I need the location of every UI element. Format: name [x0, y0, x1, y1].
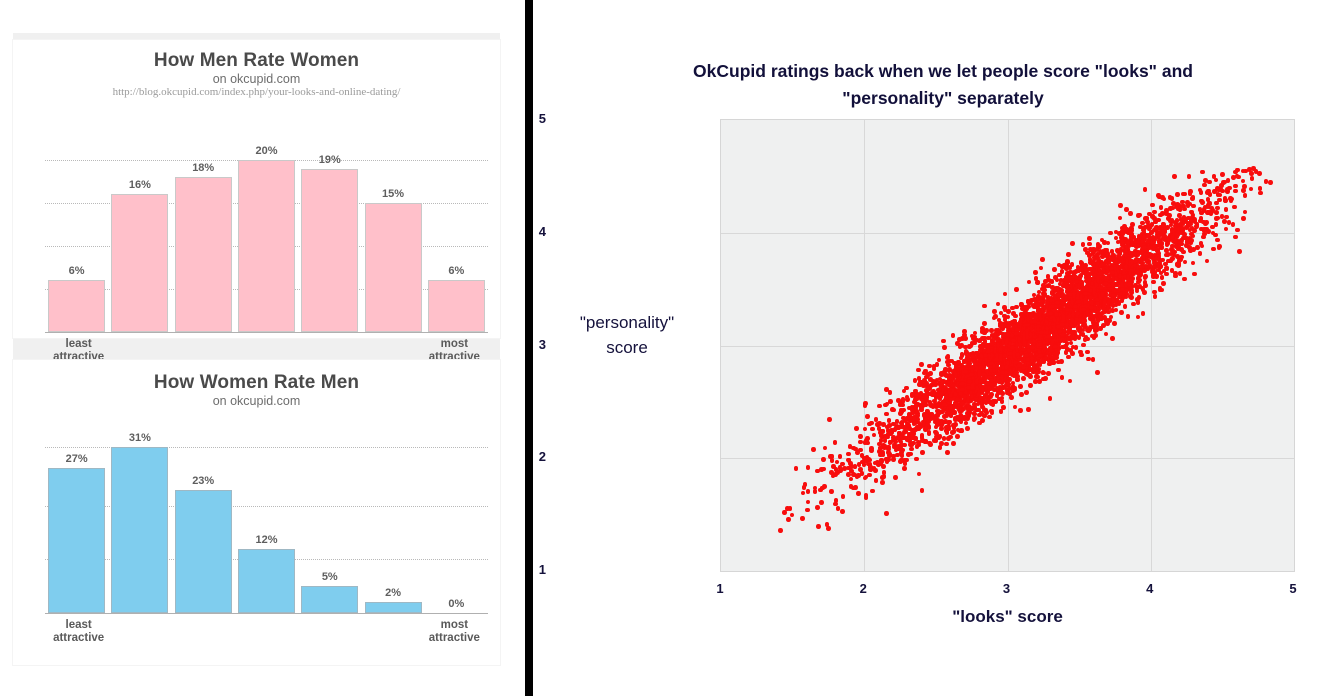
scatter-point	[1039, 296, 1044, 301]
axis-baseline	[45, 613, 488, 614]
scatter-point	[1231, 222, 1236, 227]
scatter-point	[1041, 283, 1046, 288]
axis-label-most-attractive: mostattractive	[423, 619, 486, 645]
scatter-point	[1067, 326, 1072, 331]
scatter-point	[854, 426, 859, 431]
scatter-point	[1169, 258, 1174, 263]
bar	[111, 447, 168, 613]
chart-subtitle-men-rate-women: on okcupid.com	[13, 72, 500, 86]
scatter-point	[1106, 241, 1111, 246]
scatter-point	[1181, 250, 1186, 255]
scatter-point	[886, 450, 891, 455]
scatter-point	[1160, 275, 1165, 280]
scatter-point	[1094, 328, 1099, 333]
scatter-point	[969, 372, 974, 377]
scatter-point	[1101, 323, 1106, 328]
scatter-point	[1091, 357, 1096, 362]
bar	[301, 586, 358, 613]
scatter-point	[790, 513, 795, 518]
scatter-point	[1085, 350, 1090, 355]
scatter-point	[1070, 241, 1075, 246]
scatter-point	[1217, 244, 1222, 249]
scatter-point	[1136, 300, 1141, 305]
scatter-point	[1082, 322, 1087, 327]
scatter-point	[1141, 311, 1146, 316]
scatter-point	[1183, 260, 1188, 265]
scatter-point	[897, 431, 902, 436]
scatter-point	[958, 344, 963, 349]
scatter-point	[1154, 256, 1159, 261]
scatter-point	[881, 452, 886, 457]
scatter-point	[1026, 407, 1031, 412]
scatter-point	[881, 464, 886, 469]
bar-value-label: 2%	[365, 587, 422, 599]
y-axis-label-line-1: "personality"	[541, 310, 713, 335]
scatter-point	[955, 397, 960, 402]
scatter-point	[1241, 216, 1246, 221]
scatter-point	[879, 459, 884, 464]
scatter-point	[1227, 220, 1232, 225]
y-axis-tick: 3	[506, 337, 546, 352]
scatter-point	[932, 416, 937, 421]
scatter-title-line-2: "personality" separately	[593, 85, 1293, 112]
scatter-point	[1220, 172, 1225, 177]
scatter-point	[1048, 396, 1053, 401]
bar-value-label: 20%	[238, 145, 295, 157]
scatter-point	[1249, 187, 1254, 192]
scatter-point	[1105, 251, 1110, 256]
scatter-point	[1038, 353, 1043, 358]
scatter-point	[942, 402, 947, 407]
scatter-point	[801, 491, 806, 496]
scatter-point	[971, 336, 976, 341]
scatter-point	[1153, 294, 1158, 299]
bar-value-label: 15%	[365, 188, 422, 200]
scatter-point	[965, 355, 970, 360]
scatter-point	[1030, 345, 1035, 350]
scatter-point	[1076, 299, 1081, 304]
scatter-point	[1051, 355, 1056, 360]
scatter-point	[1202, 232, 1207, 237]
scatter-point	[1003, 292, 1008, 297]
scatter-point	[1066, 355, 1071, 360]
scatter-point	[1081, 307, 1086, 312]
scatter-point	[936, 409, 941, 414]
scatter-point	[921, 400, 926, 405]
bar-value-label: 6%	[48, 265, 105, 277]
scatter-point	[1170, 268, 1175, 273]
scatter-point	[1096, 318, 1101, 323]
scatter-point	[1123, 304, 1128, 309]
scatter-point	[1003, 377, 1008, 382]
scatter-point	[806, 489, 811, 494]
scatter-point	[1143, 187, 1148, 192]
scatter-point	[924, 375, 929, 380]
axis-label-most-attractive-line-1: most	[423, 619, 486, 632]
scatter-point	[1032, 319, 1037, 324]
scatter-point	[1103, 281, 1108, 286]
scatter-point	[841, 494, 846, 499]
scatter-point	[1017, 337, 1022, 342]
axis-label-least-attractive-line-1: least	[47, 338, 110, 351]
scatter-point	[1033, 270, 1038, 275]
y-axis-tick: 2	[506, 449, 546, 464]
scatter-point	[1079, 267, 1084, 272]
scatter-point	[985, 343, 990, 348]
scatter-point	[1233, 189, 1238, 194]
scatter-point	[815, 505, 820, 510]
scatter-point	[870, 427, 875, 432]
scatter-point	[908, 452, 913, 457]
bars-area-men-rate-women: 6%16%18%20%19%15%6%leastattractivemostat…	[13, 88, 500, 338]
scatter-point	[885, 459, 890, 464]
scatter-point	[1192, 228, 1197, 233]
scatter-point	[1142, 245, 1147, 250]
scatter-point	[901, 397, 906, 402]
chart-title-women-rate-men: How Women Rate Men	[13, 372, 500, 394]
scatter-point	[819, 467, 824, 472]
scatter-point	[966, 385, 971, 390]
scatter-point	[903, 429, 908, 434]
scatter-point	[1104, 332, 1109, 337]
scatter-point	[1216, 216, 1221, 221]
scatter-point	[942, 370, 947, 375]
scatter-point	[849, 484, 854, 489]
scatter-point	[1095, 370, 1100, 375]
scatter-point	[863, 427, 868, 432]
scatter-point	[951, 383, 956, 388]
scatter-point	[851, 472, 856, 477]
scatter-point	[1022, 305, 1027, 310]
scatter-point	[1001, 405, 1006, 410]
bar-value-label: 12%	[238, 534, 295, 546]
scatter-point	[965, 399, 970, 404]
scatter-point	[1137, 284, 1142, 289]
scatter-point	[962, 394, 967, 399]
scatter-point	[982, 321, 987, 326]
scatter-point	[928, 442, 933, 447]
scatter-point	[957, 361, 962, 366]
scatter-point	[834, 498, 839, 503]
bar-value-label: 6%	[428, 265, 485, 277]
scatter-point	[1039, 330, 1044, 335]
bar-value-label: 5%	[301, 571, 358, 583]
bar-value-label: 0%	[428, 598, 485, 610]
scatter-point	[1017, 363, 1022, 368]
scatter-point	[982, 304, 987, 309]
scatter-point	[1241, 188, 1246, 193]
scatter-point	[999, 409, 1004, 414]
scatter-point	[1013, 405, 1018, 410]
scatter-point	[1062, 263, 1067, 268]
scatter-point	[782, 510, 787, 515]
scatter-point	[996, 302, 1001, 307]
scatter-point	[858, 448, 863, 453]
scatter-point	[1154, 274, 1159, 279]
scatter-point	[1188, 189, 1193, 194]
scatter-point	[1052, 318, 1057, 323]
scatter-point	[794, 466, 799, 471]
scatter-point	[1235, 168, 1240, 173]
x-axis-tick: 5	[1273, 581, 1313, 596]
scatter-point	[1070, 299, 1075, 304]
scatter-point	[1014, 287, 1019, 292]
scatter-point	[990, 333, 995, 338]
scatter-point	[880, 480, 885, 485]
scatter-point	[1125, 227, 1130, 232]
scatter-horizontal-gridline	[721, 458, 1294, 459]
axis-label-most-attractive-line-2: attractive	[423, 632, 486, 645]
scatter-point	[835, 460, 840, 465]
scatter-plot-title: OkCupid ratings back when we let people …	[593, 58, 1293, 112]
scatter-point	[1037, 360, 1042, 365]
scatter-point	[846, 452, 851, 457]
scatter-point	[1161, 230, 1166, 235]
scatter-point	[1211, 247, 1216, 252]
scatter-point	[932, 364, 937, 369]
scatter-point	[960, 387, 965, 392]
scatter-point	[989, 378, 994, 383]
x-axis-tick: 2	[843, 581, 883, 596]
scatter-point	[913, 378, 918, 383]
bar	[238, 549, 295, 613]
bar	[111, 194, 168, 332]
scatter-point	[1010, 345, 1015, 350]
scatter-point	[978, 379, 983, 384]
scatter-point	[803, 482, 808, 487]
scatter-point	[1136, 251, 1141, 256]
scatter-point	[989, 392, 994, 397]
scatter-point	[915, 397, 920, 402]
scatter-point	[853, 447, 858, 452]
scatter-point	[1186, 203, 1191, 208]
scatter-point	[970, 365, 975, 370]
scatter-point	[998, 355, 1003, 360]
scatter-point	[1041, 370, 1046, 375]
scatter-point	[1254, 169, 1259, 174]
scatter-point	[1079, 273, 1084, 278]
scatter-point	[950, 430, 955, 435]
scatter-point	[806, 465, 811, 470]
scatter-point	[1021, 376, 1026, 381]
scatter-point	[912, 415, 917, 420]
scatter-point	[856, 491, 861, 496]
scatter-point	[924, 425, 929, 430]
scatter-point	[830, 454, 835, 459]
scatter-point	[1203, 205, 1208, 210]
scatter-point	[1065, 307, 1070, 312]
bar-value-label: 19%	[301, 154, 358, 166]
bar-value-label: 31%	[111, 432, 168, 444]
scatter-point	[952, 361, 957, 366]
scatter-point	[1225, 187, 1230, 192]
scatter-point	[1061, 301, 1066, 306]
scatter-point	[867, 422, 872, 427]
scatter-point	[1118, 216, 1123, 221]
scatter-point	[1172, 250, 1177, 255]
scatter-point	[1172, 174, 1177, 179]
scatter-point	[1143, 274, 1148, 279]
scatter-point	[904, 386, 909, 391]
scatter-point	[1035, 280, 1040, 285]
scatter-point	[1224, 227, 1229, 232]
scatter-point	[1011, 338, 1016, 343]
scatter-point	[985, 381, 990, 386]
scatter-point	[938, 445, 943, 450]
scatter-point	[941, 339, 946, 344]
scatter-point	[1006, 324, 1011, 329]
scatter-point	[1063, 296, 1068, 301]
scatter-point	[965, 411, 970, 416]
scatter-point	[1159, 205, 1164, 210]
scatter-point	[1077, 284, 1082, 289]
scatter-point	[1033, 379, 1038, 384]
scatter-point	[965, 426, 970, 431]
scatter-point	[1191, 195, 1196, 200]
scatter-point	[1101, 306, 1106, 311]
scatter-point	[1100, 254, 1105, 259]
scatter-point	[1136, 276, 1141, 281]
scatter-point	[1170, 196, 1175, 201]
scatter-point	[1018, 342, 1023, 347]
scatter-point	[821, 457, 826, 462]
scatter-point	[891, 435, 896, 440]
scatter-point	[963, 369, 968, 374]
scatter-point	[1110, 256, 1115, 261]
scatter-point	[840, 509, 845, 514]
scatter-point	[1136, 315, 1141, 320]
scatter-point	[1119, 310, 1124, 315]
scatter-point	[964, 421, 969, 426]
scatter-point	[1135, 269, 1140, 274]
scatter-point	[1106, 310, 1111, 315]
scatter-point	[1043, 376, 1048, 381]
scatter-point	[1235, 228, 1240, 233]
scatter-x-axis-label: "looks" score	[720, 607, 1295, 627]
scatter-point	[1237, 249, 1242, 254]
scatter-point	[1128, 251, 1133, 256]
scatter-point	[1095, 252, 1100, 257]
scatter-point	[1046, 371, 1051, 376]
scatter-point	[1009, 395, 1014, 400]
scatter-point	[1015, 374, 1020, 379]
scatter-point	[1161, 236, 1166, 241]
scatter-point	[1127, 282, 1132, 287]
scatter-point	[1268, 180, 1273, 185]
scatter-point	[1184, 225, 1189, 230]
scatter-point	[1142, 268, 1147, 273]
scatter-point	[1128, 294, 1133, 299]
scatter-point	[1066, 252, 1071, 257]
scatter-point	[926, 385, 931, 390]
scatter-point	[977, 421, 982, 426]
scatter-point	[1130, 222, 1135, 227]
scatter-point	[1013, 314, 1018, 319]
scatter-point	[1243, 210, 1248, 215]
scatter-point	[946, 436, 951, 441]
scatter-point	[1108, 231, 1113, 236]
scatter-point	[888, 390, 893, 395]
scatter-point	[1207, 202, 1212, 207]
scatter-point	[864, 459, 869, 464]
scatter-point	[1228, 196, 1233, 201]
scatter-point	[1119, 247, 1124, 252]
scatter-point	[1008, 351, 1013, 356]
scatter-point	[877, 404, 882, 409]
scatter-point	[1052, 267, 1057, 272]
scatter-point	[984, 328, 989, 333]
scatter-point	[858, 434, 863, 439]
scatter-point	[864, 493, 869, 498]
scatter-point	[1215, 238, 1220, 243]
scatter-point	[912, 431, 917, 436]
scatter-point	[1070, 262, 1075, 267]
scatter-point	[867, 473, 872, 478]
scatter-point	[865, 414, 870, 419]
scatter-point	[849, 477, 854, 482]
scatter-point	[933, 430, 938, 435]
scatter-point	[1165, 266, 1170, 271]
scatter-point	[1258, 186, 1263, 191]
scatter-point	[1118, 203, 1123, 208]
x-axis-tick: 4	[1130, 581, 1170, 596]
scatter-point	[829, 489, 834, 494]
scatter-point	[1178, 207, 1183, 212]
scatter-point	[1093, 333, 1098, 338]
scatter-point	[1143, 283, 1148, 288]
scatter-point	[853, 485, 858, 490]
scatter-point	[1060, 322, 1065, 327]
scatter-point	[1102, 303, 1107, 308]
scatter-point	[909, 447, 914, 452]
bars-area-women-rate-men: 27%31%23%12%5%2%0%leastattractivemostatt…	[13, 405, 500, 665]
scatter-point	[858, 467, 863, 472]
scatter-point	[1173, 271, 1178, 276]
scatter-point	[960, 429, 965, 434]
scatter-point	[1032, 367, 1037, 372]
scatter-point	[896, 444, 901, 449]
scatter-point	[1233, 184, 1238, 189]
scatter-point	[1086, 271, 1091, 276]
scatter-point	[1120, 298, 1125, 303]
scatter-point	[1214, 178, 1219, 183]
scatter-point	[1073, 304, 1078, 309]
scatter-point	[1222, 219, 1227, 224]
scatter-point	[1145, 216, 1150, 221]
scatter-point	[869, 448, 874, 453]
scatter-point	[1136, 213, 1141, 218]
scatter-point	[1094, 283, 1099, 288]
scatter-point	[917, 472, 922, 477]
scatter-plot-area	[720, 119, 1295, 572]
scatter-point	[1164, 248, 1169, 253]
scatter-point	[1208, 192, 1213, 197]
scatter-point	[1088, 325, 1093, 330]
scatter-point	[972, 358, 977, 363]
scatter-point	[811, 447, 816, 452]
scatter-point	[1112, 321, 1117, 326]
scatter-point	[874, 478, 879, 483]
scatter-point	[903, 461, 908, 466]
scatter-point	[1046, 334, 1051, 339]
scatter-point	[992, 309, 997, 314]
scatter-point	[880, 429, 885, 434]
scatter-point	[806, 500, 811, 505]
scatter-point	[1206, 229, 1211, 234]
scatter-point	[945, 360, 950, 365]
scatter-point	[1070, 319, 1075, 324]
scatter-point	[778, 528, 783, 533]
